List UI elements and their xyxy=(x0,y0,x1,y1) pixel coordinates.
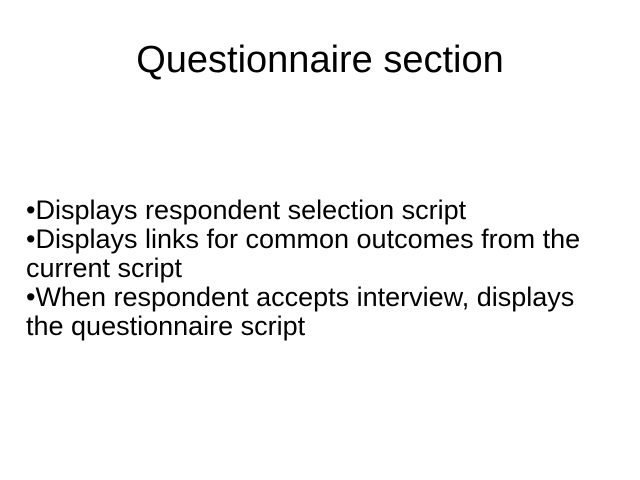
list-item: •When respondent accepts interview, disp… xyxy=(26,283,616,341)
list-item-label: Displays respondent selection script xyxy=(35,195,466,225)
list-item-label: When respondent accepts interview, displ… xyxy=(26,282,574,341)
list-item: •Displays links for common outcomes from… xyxy=(26,225,616,283)
list-item: •Displays respondent selection script xyxy=(26,196,616,225)
slide-canvas: Questionnaire section •Displays responde… xyxy=(0,0,640,480)
list-item-label: Displays links for common outcomes from … xyxy=(26,224,580,283)
page-title: Questionnaire section xyxy=(0,38,640,82)
bullet-list: •Displays respondent selection script •D… xyxy=(26,196,616,341)
